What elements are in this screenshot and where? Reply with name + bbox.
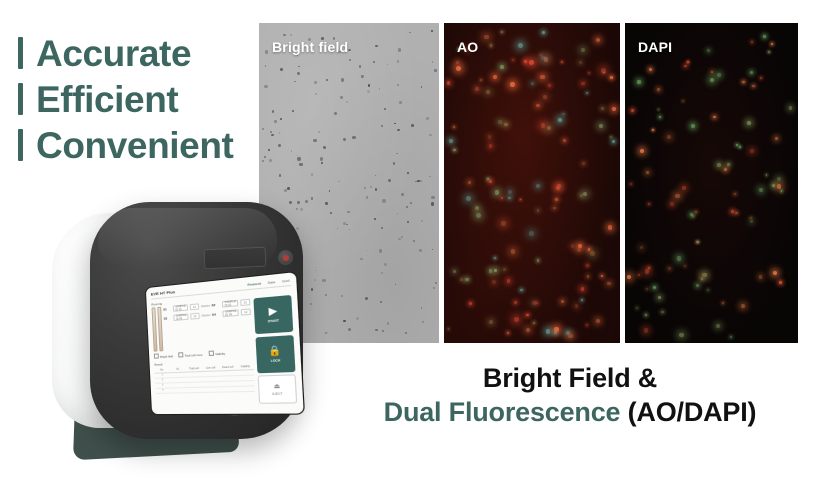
cell-speck: [382, 330, 384, 332]
cell-speck: [691, 124, 695, 128]
cell-speck: [315, 93, 317, 95]
cell-speck: [407, 172, 409, 174]
cell-speck: [588, 72, 590, 74]
cell-speck: [752, 85, 754, 87]
cell-speck: [695, 211, 697, 213]
cell-speck: [313, 139, 316, 142]
cell-speck: [291, 150, 293, 152]
sample-tag: S1: [163, 307, 171, 312]
instrument-device: NanoEnTek EVE HT Plus Protocol Data Conf…: [52, 195, 312, 460]
cell-speck: [299, 163, 302, 166]
cell-speck: [381, 125, 383, 127]
cell-speck: [546, 329, 550, 333]
eject-button[interactable]: ⏏ EJECT: [258, 374, 298, 404]
cell-speck: [581, 299, 583, 301]
cell-speck: [325, 202, 328, 205]
cell-speck: [724, 168, 727, 171]
cell-speck: [379, 88, 381, 90]
cell-speck: [498, 120, 502, 124]
cell-speck: [264, 85, 267, 88]
cell-speck: [421, 220, 423, 222]
cell-speck: [575, 304, 579, 308]
cell-speck: [779, 281, 782, 284]
cell-speck: [468, 181, 471, 184]
cell-speck: [535, 302, 537, 304]
cell-speck: [298, 66, 299, 67]
cell-speck: [327, 332, 328, 333]
cell-speck: [493, 75, 497, 79]
cell-speck: [431, 202, 434, 205]
cell-speck: [684, 65, 687, 68]
panel-ao: AO: [444, 23, 620, 343]
cell-speck: [366, 196, 368, 198]
lock-button-label: LOCK: [271, 358, 281, 363]
cell-speck: [696, 241, 698, 243]
cell-speck: [384, 263, 387, 266]
cell-speck: [475, 87, 479, 91]
cell-speck: [401, 236, 403, 238]
cell-speck: [422, 321, 424, 323]
checkbox-total-cell[interactable]: Total cell conc.: [178, 351, 203, 358]
dilution-input[interactable]: 12: [190, 313, 199, 320]
cell-speck: [587, 275, 590, 278]
cell-speck: [731, 210, 734, 213]
cell-speck: [435, 282, 437, 284]
cell-speck: [588, 248, 591, 251]
cell-speck: [533, 322, 535, 324]
col-live-cell: Live cell: [203, 366, 219, 370]
cell-speck: [432, 61, 434, 63]
cell-speck: [722, 302, 724, 304]
cell-speck: [687, 61, 689, 63]
micrograph-panel-group: Bright field AO DAPI: [259, 23, 798, 343]
cell-speck: [434, 69, 437, 72]
cell-speck: [750, 220, 753, 223]
start-button-label: START: [268, 318, 279, 323]
panel-label-bright-field: Bright field: [272, 39, 348, 55]
cell-speck: [359, 65, 361, 67]
cell-speck: [379, 249, 382, 252]
cell-speck: [652, 129, 654, 131]
cell-speck: [476, 213, 481, 218]
cell-speck: [668, 267, 671, 270]
cell-speck: [448, 328, 450, 330]
tab-conf[interactable]: Conf.: [282, 278, 291, 283]
cell-speck: [334, 112, 337, 115]
cell-speck: [271, 134, 274, 137]
cell-speck: [526, 314, 529, 317]
cell-speck: [262, 160, 264, 162]
start-button[interactable]: ▶ START: [253, 295, 293, 334]
cell-speck: [460, 278, 463, 281]
tab-protocol[interactable]: Protocol: [247, 281, 261, 287]
cell-speck: [736, 144, 738, 146]
cell-speck: [375, 188, 377, 190]
cell-speck: [531, 82, 534, 85]
cell-speck: [262, 128, 264, 130]
cell-speck: [318, 131, 320, 133]
cell-speck: [279, 174, 281, 176]
cell-speck: [432, 249, 433, 250]
cell-speck: [388, 179, 391, 182]
cell-speck: [407, 221, 409, 223]
cell-no: 3: [155, 383, 170, 386]
cell-speck: [646, 288, 648, 290]
cell-speck: [364, 187, 366, 189]
headline-row-1: Accurate: [18, 30, 268, 76]
cell-speck: [586, 324, 588, 326]
checkbox-viability[interactable]: Viability: [208, 350, 225, 357]
eject-icon: ⏏: [274, 383, 281, 390]
results-table: No. ID Total cell Live cell Dead cell Vi…: [155, 364, 255, 393]
screen-action-column: ▶ START 🔒 LOCK ⏏ EJECT: [253, 295, 297, 404]
cell-speck: [630, 183, 632, 185]
cell-speck: [343, 138, 345, 140]
cell-speck: [504, 123, 507, 126]
checkbox-bright-field[interactable]: Bright field: [154, 353, 173, 360]
cell-speck: [751, 41, 753, 43]
cell-speck: [730, 336, 732, 338]
cell-speck: [649, 68, 652, 71]
tab-data[interactable]: Data: [268, 279, 276, 284]
cell-speck: [741, 304, 745, 308]
device-touchscreen[interactable]: EVE HT Plus Protocol Data Conf. Running: [145, 271, 305, 415]
cell-speck: [682, 100, 684, 102]
cell-speck: [405, 332, 407, 334]
headline-row-2: Efficient: [18, 76, 268, 122]
cell-speck: [658, 296, 662, 300]
cell-speck: [492, 280, 496, 284]
cell-speck: [488, 135, 491, 138]
headline-block: Accurate Efficient Convenient: [18, 30, 268, 168]
cell-speck: [314, 279, 317, 282]
cell-speck: [682, 186, 686, 190]
cell-speck: [401, 193, 404, 196]
cell-speck: [278, 144, 281, 147]
cell-speck: [501, 221, 506, 226]
cell-speck: [608, 225, 612, 229]
cell-speck: [520, 289, 522, 291]
sample-id-input[interactable]: SAMPLE ID 04: [222, 309, 238, 317]
cell-speck: [657, 88, 660, 91]
cell-speck: [380, 301, 382, 303]
cell-speck: [287, 187, 290, 190]
cell-speck: [520, 199, 522, 201]
cell-speck: [280, 118, 282, 120]
cell-speck: [542, 31, 545, 34]
cell-speck: [373, 61, 375, 63]
cell-speck: [367, 90, 370, 93]
cell-speck: [568, 334, 572, 338]
cell-speck: [449, 139, 453, 143]
cell-speck: [707, 49, 710, 52]
cell-speck: [750, 217, 752, 219]
cell-speck: [494, 269, 498, 273]
cell-speck: [297, 72, 300, 75]
cell-speck: [352, 136, 355, 139]
cell-speck: [340, 96, 342, 98]
cell-speck: [501, 31, 503, 33]
cell-speck: [343, 320, 346, 323]
cell-speck: [349, 59, 351, 61]
screen-input-area: S1 SAMPLE ID 01 12 Dilution S2 SAMPLE ID…: [152, 299, 256, 405]
cell-speck: [653, 286, 656, 289]
cell-speck: [640, 149, 644, 153]
cell-speck: [512, 59, 514, 61]
cell-speck: [586, 264, 588, 266]
cell-speck: [596, 319, 600, 323]
dilution-input[interactable]: 12: [240, 299, 250, 306]
cell-speck: [381, 272, 383, 274]
col-dead-cell: Dead cell: [220, 365, 236, 369]
cell-speck: [433, 287, 435, 289]
cell-speck: [561, 300, 564, 303]
cell-speck: [393, 162, 396, 165]
cell-speck: [311, 173, 313, 175]
cell-speck: [529, 231, 534, 236]
cell-speck: [382, 199, 385, 202]
sample-id-input[interactable]: SAMPLE ID 02: [222, 300, 238, 308]
cell-speck: [548, 84, 551, 87]
cell-speck: [667, 135, 671, 139]
cell-speck: [713, 116, 716, 119]
cell-speck: [453, 149, 455, 151]
cell-speck: [526, 328, 530, 332]
cell-speck: [280, 68, 283, 71]
cell-speck: [421, 86, 423, 88]
cell-speck: [370, 186, 373, 189]
cell-speck: [279, 132, 280, 133]
cell-speck: [536, 104, 540, 108]
cell-speck: [638, 274, 641, 277]
cell-speck: [555, 198, 558, 201]
cell-speck: [508, 190, 512, 194]
cell-speck: [507, 332, 509, 334]
screen-main: S1 SAMPLE ID 01 12 Dilution S2 SAMPLE ID…: [152, 295, 298, 405]
cell-speck: [375, 329, 378, 332]
cell-speck: [486, 90, 490, 94]
cell-speck: [356, 317, 359, 320]
dilution-input[interactable]: 12: [241, 308, 251, 315]
cell-speck: [365, 297, 368, 300]
cell-speck: [612, 140, 615, 143]
cell-speck: [290, 34, 292, 36]
cell-speck: [561, 61, 563, 63]
cell-speck: [374, 218, 376, 220]
sample-tag: S3: [164, 316, 172, 321]
headline-word-3: Convenient: [36, 127, 233, 164]
cell-speck: [747, 121, 751, 125]
cell-speck: [329, 190, 330, 191]
cell-speck: [571, 244, 574, 247]
cell-speck: [360, 258, 363, 261]
cell-speck: [645, 314, 647, 316]
cell-speck: [646, 171, 649, 174]
cell-speck: [397, 129, 400, 132]
cell-speck: [495, 190, 499, 194]
cell-speck: [582, 162, 585, 165]
cell-speck: [734, 193, 737, 196]
cell-speck: [679, 333, 684, 338]
cell-speck: [395, 284, 397, 286]
cell-speck: [612, 107, 616, 111]
cell-speck: [375, 175, 376, 176]
cell-speck: [658, 109, 660, 111]
dapi-cells: [625, 23, 798, 343]
headline-row-3: Convenient: [18, 122, 268, 168]
cell-speck: [431, 196, 434, 199]
sample-tag: S4: [212, 312, 221, 317]
cell-speck: [637, 80, 641, 84]
caption-block: Bright Field & Dual Fluorescence (AO/DAP…: [330, 362, 810, 430]
cell-speck: [716, 324, 720, 328]
cell-speck: [508, 197, 511, 200]
power-indicator-dot: [283, 255, 289, 261]
cell-speck: [750, 149, 754, 153]
cell-speck: [320, 157, 323, 160]
cell-speck: [368, 84, 370, 86]
cell-speck: [348, 328, 351, 331]
cell-speck: [603, 72, 605, 74]
cell-speck: [537, 209, 540, 212]
cell-speck: [759, 188, 763, 192]
cell-speck: [326, 79, 328, 81]
cell-speck: [348, 49, 350, 51]
cell-speck: [269, 159, 272, 162]
dilution-input[interactable]: 12: [190, 303, 199, 310]
cell-speck: [710, 78, 714, 82]
cell-speck: [420, 180, 422, 182]
sample-id-input[interactable]: SAMPLE ID 03: [173, 314, 188, 321]
headline-word-1: Accurate: [36, 35, 191, 72]
cell-speck: [315, 270, 316, 271]
cell-speck: [367, 250, 368, 251]
cell-speck: [781, 190, 783, 192]
table-row[interactable]: 4: [156, 386, 255, 393]
cell-speck: [297, 155, 299, 157]
cell-speck: [518, 43, 523, 48]
cell-speck: [503, 268, 506, 271]
cell-speck: [398, 238, 401, 241]
cell-speck: [469, 302, 472, 305]
cell-speck: [540, 75, 544, 79]
col-total-cell: Total cell: [186, 367, 202, 371]
cell-speck: [490, 44, 492, 46]
cell-speck: [397, 60, 400, 63]
cell-speck: [696, 284, 699, 287]
cell-speck: [775, 137, 778, 140]
cell-speck: [484, 35, 489, 40]
cell-speck: [411, 124, 414, 127]
cell-speck: [338, 181, 340, 183]
banner-stage: Accurate Efficient Convenient Bright fie…: [0, 0, 832, 494]
cell-speck: [777, 184, 782, 189]
cell-speck: [297, 157, 300, 160]
cell-speck: [610, 136, 612, 138]
cell-speck: [711, 71, 714, 74]
cell-speck: [429, 176, 431, 178]
panel-dapi: DAPI: [625, 23, 798, 343]
cell-speck: [562, 113, 564, 115]
cell-speck: [772, 184, 775, 187]
cell-speck: [529, 60, 534, 65]
cell-speck: [557, 184, 561, 188]
sample-id-input[interactable]: SAMPLE ID 01: [173, 304, 188, 311]
cell-speck: [489, 180, 492, 183]
cell-speck: [421, 307, 422, 308]
cell-speck: [322, 279, 325, 282]
col-id: ID: [170, 367, 185, 371]
cell-speck: [541, 123, 546, 128]
caption-line-2: Dual Fluorescence (AO/DAPI): [330, 396, 810, 430]
cell-speck: [387, 322, 390, 325]
cell-speck: [659, 116, 661, 118]
cell-speck: [684, 265, 686, 267]
cell-speck: [599, 124, 603, 128]
cell-speck: [480, 79, 482, 81]
cell-speck: [283, 34, 285, 36]
cell-speck: [727, 163, 730, 166]
cell-speck: [489, 269, 492, 272]
cell-speck: [510, 82, 515, 87]
cell-speck: [553, 207, 556, 210]
cell-speck: [396, 153, 398, 155]
cell-speck: [268, 149, 270, 151]
cell-speck: [507, 279, 511, 283]
cell-speck: [494, 257, 496, 259]
cell-speck: [558, 118, 562, 122]
cell-no: 2: [155, 378, 170, 381]
cell-speck: [453, 126, 455, 128]
dilution-unit-label: Dilution: [201, 304, 209, 308]
cell-speck: [537, 259, 539, 261]
cell-speck: [607, 282, 611, 286]
cell-speck: [640, 246, 644, 250]
cell-speck: [707, 289, 709, 291]
cell-speck: [524, 60, 527, 63]
cell-speck: [543, 95, 547, 99]
sample-tag: S2: [211, 302, 220, 307]
screen-logo: EVE HT Plus: [151, 289, 176, 297]
cell-speck: [563, 139, 566, 142]
cell-speck: [596, 38, 600, 42]
cell-speck: [670, 202, 674, 206]
cell-speck: [394, 123, 395, 124]
cell-speck: [429, 134, 432, 137]
lock-button[interactable]: 🔒 LOCK: [255, 335, 295, 373]
cell-speck: [554, 327, 559, 332]
cell-speck: [456, 66, 461, 71]
headline-word-2: Efficient: [36, 81, 178, 118]
cell-speck: [501, 197, 503, 199]
cell-speck: [763, 35, 766, 38]
power-indicator-icon[interactable]: [278, 250, 293, 265]
cell-speck: [514, 317, 519, 322]
cell-speck: [645, 269, 650, 274]
cartridge-slot[interactable]: [204, 247, 267, 270]
cell-no: 4: [156, 389, 171, 392]
cell-speck: [489, 144, 492, 147]
caption-line-2-teal: Dual Fluorescence: [384, 397, 621, 427]
cell-speck: [321, 162, 323, 164]
cell-speck: [511, 249, 516, 254]
cell-speck: [583, 192, 588, 197]
cell-speck: [346, 101, 348, 103]
lock-icon: 🔒: [268, 345, 281, 356]
cell-speck: [417, 180, 419, 182]
cell-speck: [409, 32, 410, 33]
cell-speck: [717, 163, 721, 167]
